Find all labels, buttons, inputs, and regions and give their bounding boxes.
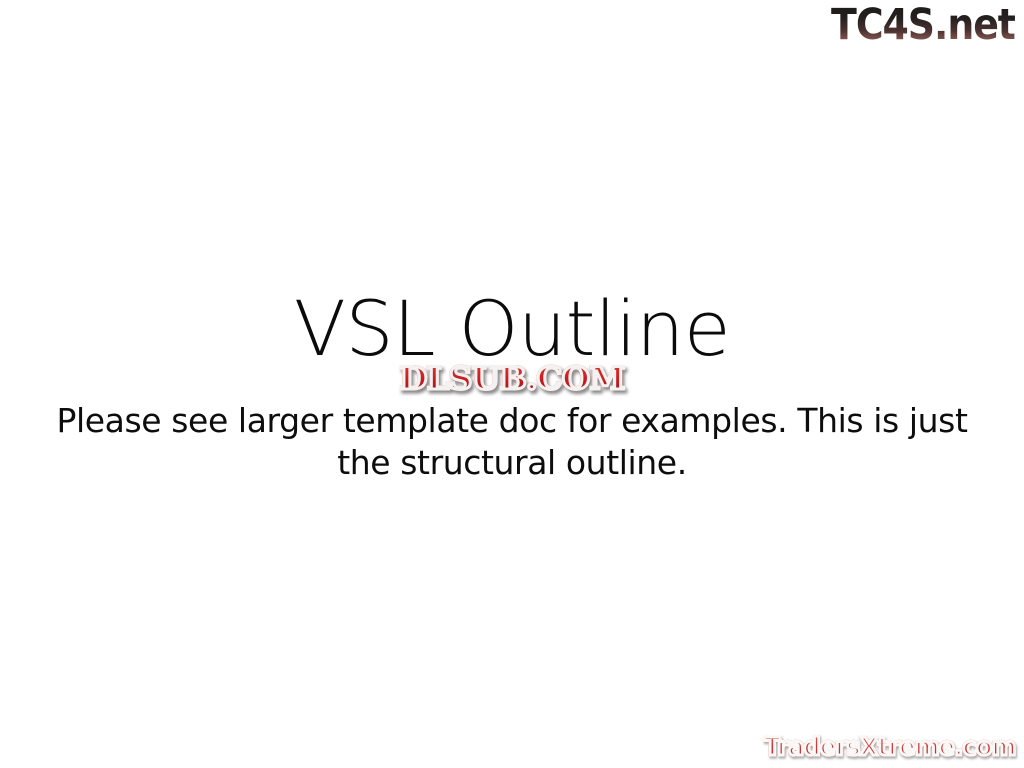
page-title: VSL Outline xyxy=(0,288,1024,370)
subtitle-line-1: Please see larger template doc for examp… xyxy=(0,400,1024,442)
tradersxtreme-site-watermark: TradersXtreme.com xyxy=(765,733,1016,761)
dlsub-overlay-watermark: DLSUB.COM xyxy=(399,362,624,396)
tc4s-site-watermark: TC4S.net xyxy=(831,2,1015,48)
presentation-slide: TC4S.net VSL Outline DLSUB.COM Please se… xyxy=(0,0,1024,768)
dlsub-watermark-text: DLSUB.COM xyxy=(399,361,624,397)
tradersxtreme-watermark-text: TradersXtreme.com xyxy=(765,732,1016,761)
slide-subtitle: Please see larger template doc for examp… xyxy=(0,400,1024,484)
subtitle-line-2: the structural outline. xyxy=(0,442,1024,484)
title-block: VSL Outline xyxy=(0,288,1024,370)
